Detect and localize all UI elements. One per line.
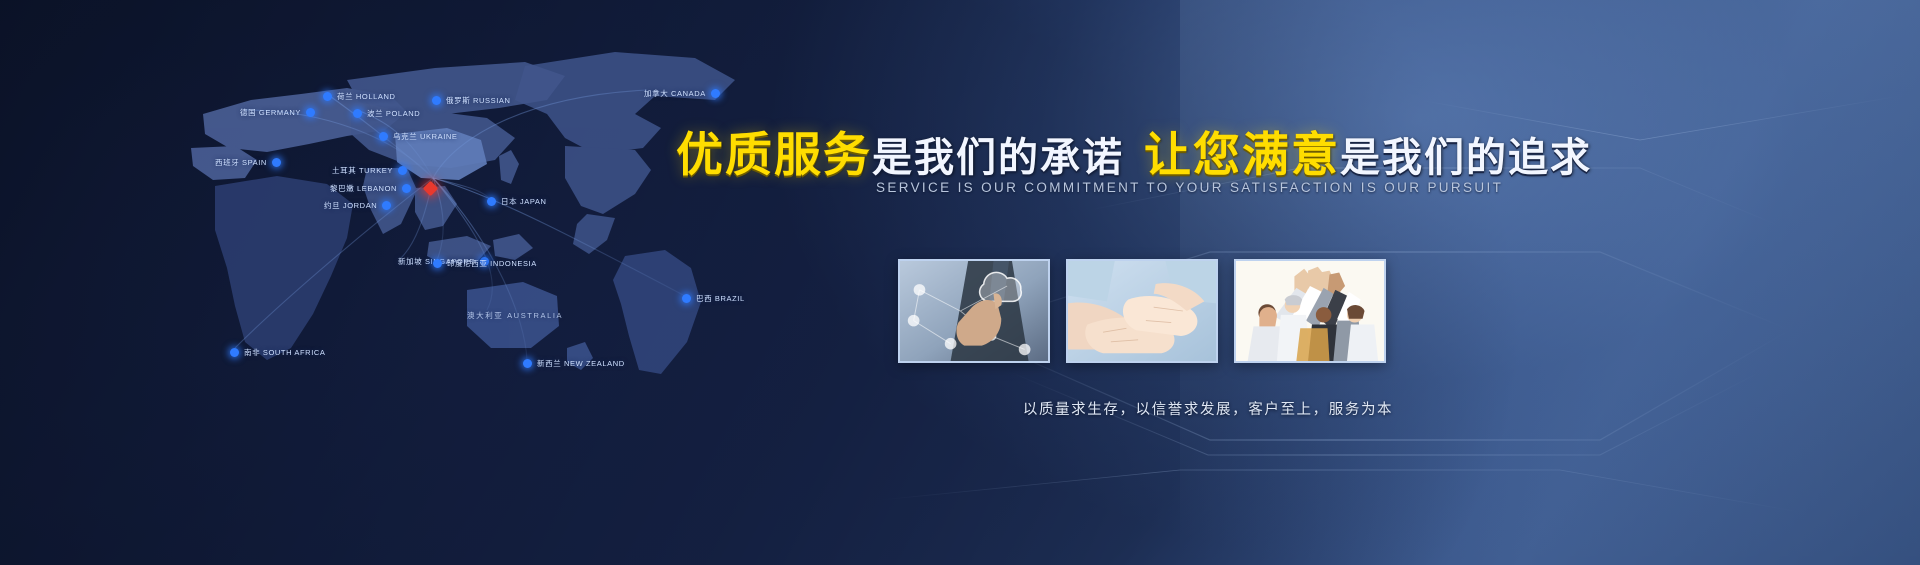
world-map: 荷兰 HOLLAND德国 GERMANY波兰 POLAND俄罗斯 RUSSIAN…: [95, 18, 915, 448]
headline-part1-plain: 是我们的承诺: [872, 136, 1124, 180]
high-five-illustration: [1236, 261, 1384, 361]
map-region-label-text: 澳大利亚 AUSTRALIA: [467, 310, 563, 321]
headline-part2-plain: 是我们的追求: [1340, 136, 1592, 180]
world-map-landmass: [95, 18, 915, 448]
map-marker-13[interactable]: 巴西 BRAZIL: [682, 293, 745, 304]
map-marker-label: 乌克兰 UKRAINE: [393, 131, 458, 142]
tagline: 以质量求生存，以信誉求发展，客户至上，服务为本: [898, 398, 1518, 419]
map-pin-icon: [272, 158, 281, 167]
map-marker-label: 南非 SOUTH AFRICA: [244, 347, 326, 358]
map-pin-icon: [402, 184, 411, 193]
headline-part1-highlight: 优质服务: [676, 128, 872, 181]
map-marker-china[interactable]: [425, 183, 436, 194]
map-marker-2[interactable]: 波兰 POLAND: [353, 108, 420, 119]
map-pin-icon: [487, 197, 496, 206]
map-marker-label: 印度尼西亚 INDONESIA: [447, 258, 537, 269]
map-marker-14[interactable]: 南非 SOUTH AFRICA: [230, 347, 326, 358]
cloud-touch-illustration: [900, 261, 1048, 361]
map-pin-icon: [432, 96, 441, 105]
map-pin-icon: [353, 109, 362, 118]
map-pin-icon: [682, 294, 691, 303]
map-pin-icon: [379, 132, 388, 141]
hands-together-teamwork-photo: [1066, 259, 1218, 363]
map-marker-label: 波兰 POLAND: [367, 108, 420, 119]
map-pin-icon: [398, 166, 407, 175]
headline: 优质服务是我们的承诺让您满意是我们的追求: [676, 124, 1416, 186]
map-marker-label: 荷兰 HOLLAND: [337, 91, 396, 102]
map-pin-icon: [230, 348, 239, 357]
map-marker-label: 加拿大 CANADA: [644, 88, 706, 99]
map-marker-3[interactable]: 俄罗斯 RUSSIAN: [432, 95, 511, 106]
location-pin-icon: [423, 181, 439, 197]
map-marker-8[interactable]: 黎巴嫩 LEBANON: [330, 183, 411, 194]
photo-strip: [898, 259, 1386, 363]
map-marker-7[interactable]: 土耳其 TURKEY: [332, 165, 407, 176]
map-marker-label: 日本 JAPAN: [501, 196, 547, 207]
map-pin-icon: [306, 108, 315, 117]
map-marker-label: 黎巴嫩 LEBANON: [330, 183, 397, 194]
map-marker-label: 德国 GERMANY: [240, 107, 301, 118]
map-pin-icon: [323, 92, 332, 101]
cloud-technology-touch-photo: [898, 259, 1050, 363]
service-promise-banner: 荷兰 HOLLAND德国 GERMANY波兰 POLAND俄罗斯 RUSSIAN…: [0, 0, 1920, 565]
map-marker-4[interactable]: 加拿大 CANADA: [644, 88, 720, 99]
map-marker-label: 土耳其 TURKEY: [332, 165, 393, 176]
subheadline: SERVICE IS OUR COMMITMENT TO YOUR SATISF…: [876, 180, 1421, 195]
map-pin-icon: [711, 89, 720, 98]
map-marker-label: 约旦 JORDAN: [324, 200, 377, 211]
map-marker-label: 新西兰 NEW ZEALAND: [537, 358, 625, 369]
map-marker-label: 巴西 BRAZIL: [696, 293, 745, 304]
map-pin-icon: [382, 201, 391, 210]
map-marker-0[interactable]: 荷兰 HOLLAND: [323, 91, 396, 102]
headline-part2-highlight: 让您满意: [1144, 128, 1340, 181]
map-marker-15[interactable]: 新西兰 NEW ZEALAND: [523, 358, 625, 369]
map-marker-1[interactable]: 德国 GERMANY: [240, 107, 315, 118]
map-marker-5[interactable]: 乌克兰 UKRAINE: [379, 131, 458, 142]
map-marker-label: 西班牙 SPAIN: [215, 157, 267, 168]
map-marker-9[interactable]: 约旦 JORDAN: [324, 200, 391, 211]
map-pin-icon: [523, 359, 532, 368]
map-marker-label: 俄罗斯 RUSSIAN: [446, 95, 511, 106]
map-pin-icon: [433, 259, 442, 268]
stacked-hands-illustration: [1068, 261, 1216, 361]
map-marker-6[interactable]: 西班牙 SPAIN: [215, 157, 281, 168]
map-marker-10[interactable]: 日本 JAPAN: [487, 196, 547, 207]
team-high-five-photo: [1234, 259, 1386, 363]
map-region-label-0: 澳大利亚 AUSTRALIA: [462, 310, 563, 321]
map-marker-12[interactable]: 印度尼西亚 INDONESIA: [433, 258, 537, 269]
